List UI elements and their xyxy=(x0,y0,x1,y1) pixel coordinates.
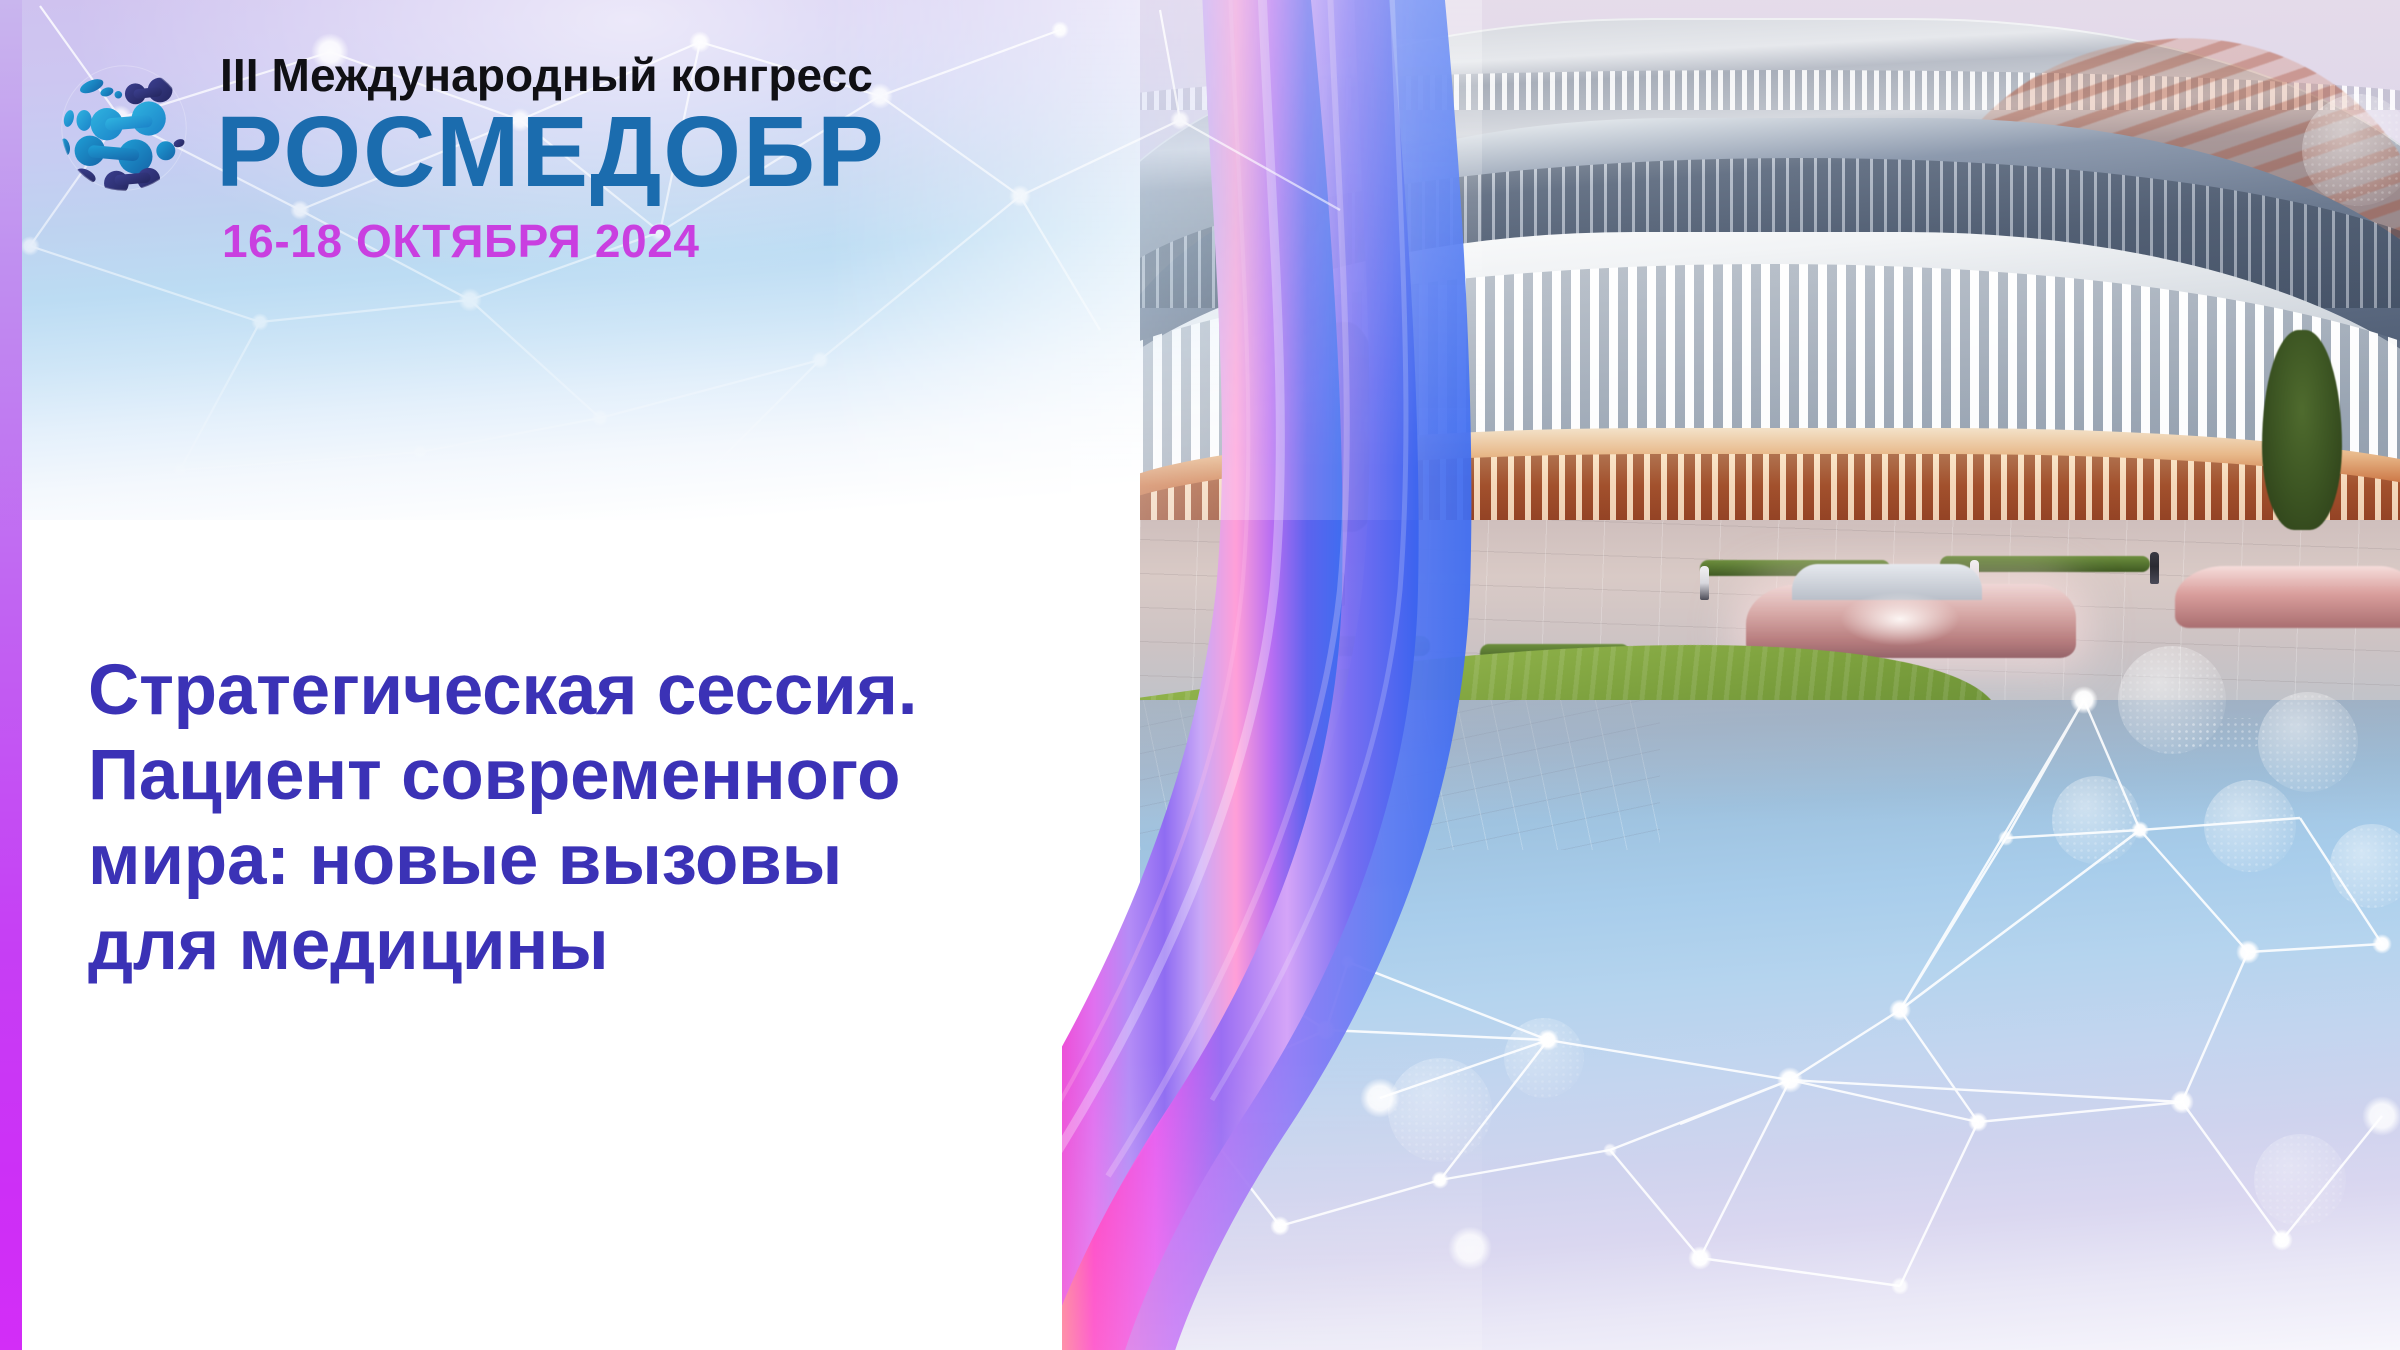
car-headlight-glow xyxy=(1840,592,1960,646)
left-accent-strip xyxy=(0,0,22,1350)
car xyxy=(2175,566,2400,628)
congress-dates: 16-18 ОКТЯБРЯ 2024 xyxy=(222,218,886,264)
pedestrian xyxy=(1700,566,1709,600)
congress-logo-lockup: III Международный конгресс РОСМЕДОБР 16-… xyxy=(48,46,886,264)
congress-kicker: III Международный конгресс xyxy=(220,52,886,98)
globe-molecule-logo-icon xyxy=(48,52,200,204)
hedge xyxy=(1260,636,1430,656)
pedestrian xyxy=(1372,578,1381,606)
pedestrian xyxy=(1336,572,1345,606)
congress-wordmark: РОСМЕДОБР xyxy=(216,102,886,202)
pedestrian xyxy=(2150,552,2159,584)
paved-plaza xyxy=(1140,700,2400,1350)
logo-text-block: III Международный конгресс РОСМЕДОБР 16-… xyxy=(220,46,886,264)
tree xyxy=(2262,330,2342,530)
session-title: Стратегическая сессия. Пациент современн… xyxy=(88,648,1208,989)
presentation-slide: III Международный конгресс РОСМЕДОБР 16-… xyxy=(0,0,2400,1350)
